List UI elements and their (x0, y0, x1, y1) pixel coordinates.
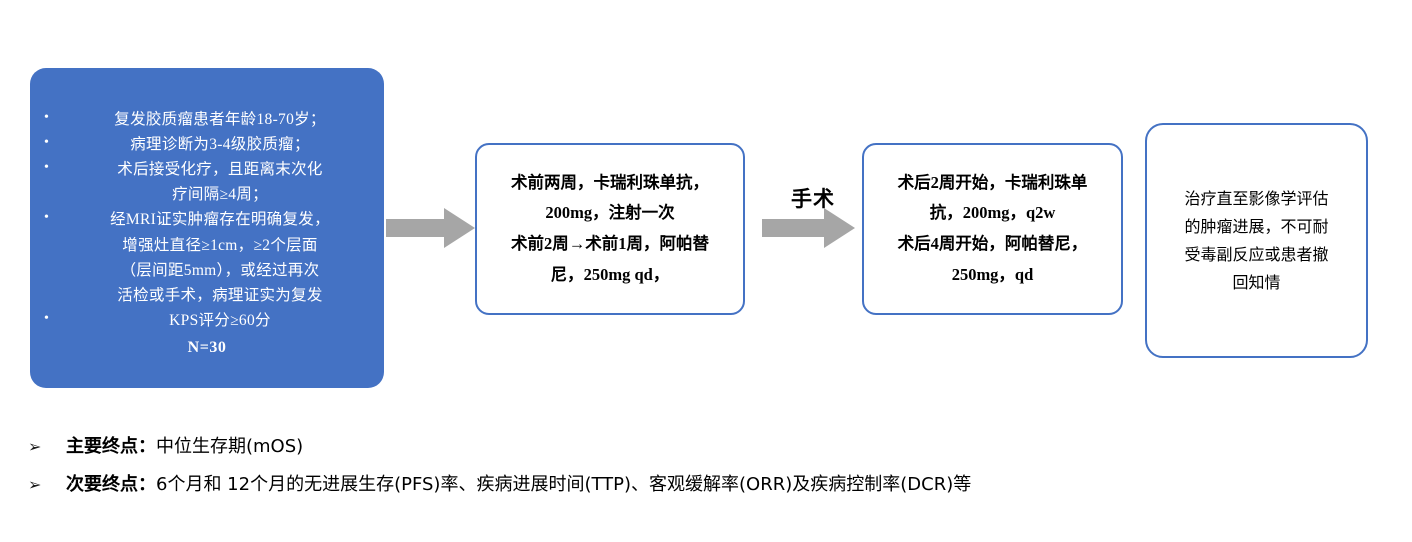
endpoints-section: ➢ 主要终点： 中位生存期(mOS) ➢ 次要终点： 6个月和 12个月的无进展… (28, 432, 1368, 508)
arrow-to-postop-icon (762, 206, 856, 255)
criterion-text: 复发胶质瘤患者年龄18-70岁； (70, 107, 370, 132)
criteria-list: • 复发胶质瘤患者年龄18-70岁； • 病理诊断为3-4级胶质瘤； • 术后接… (44, 107, 370, 333)
bullet-icon: • (44, 207, 70, 230)
secondary-endpoint-row: ➢ 次要终点： 6个月和 12个月的无进展生存(PFS)率、疾病进展时间(TTP… (28, 470, 1368, 496)
arrowhead-bullet-icon: ➢ (28, 475, 66, 494)
bullet-icon: • (44, 308, 70, 331)
criterion-line: 疗间隔≥4周； (70, 182, 370, 207)
list-item: • KPS评分≥60分 (44, 308, 370, 333)
criterion-text: KPS评分≥60分 (70, 308, 370, 333)
primary-endpoint-value: 中位生存期(mOS) (156, 432, 303, 458)
criterion-line: 经MRI证实肿瘤存在明确复发， (70, 207, 370, 232)
criterion-line: 术后接受化疗，且距离末次化 (70, 157, 370, 182)
criterion-text: 病理诊断为3-4级胶质瘤； (70, 132, 370, 157)
list-item: • 术后接受化疗，且距离末次化 疗间隔≥4周； (44, 157, 370, 207)
preop-treatment-box: 术前两周，卡瑞利珠单抗， 200mg，注射一次 术前2周→术前1周，阿帕替 尼，… (475, 143, 745, 315)
list-item: • 病理诊断为3-4级胶质瘤； (44, 132, 370, 157)
secondary-endpoint-value: 6个月和 12个月的无进展生存(PFS)率、疾病进展时间(TTP)、客观缓解率(… (156, 470, 971, 496)
secondary-endpoint-label: 次要终点： (66, 470, 156, 496)
bullet-icon: • (44, 132, 70, 155)
followup-line: 治疗直至影像学评估 (1184, 185, 1328, 213)
primary-endpoint-row: ➢ 主要终点： 中位生存期(mOS) (28, 432, 1368, 458)
followup-until-progression-box: 治疗直至影像学评估 的肿瘤进展，不可耐 受毒副反应或患者撤 回知情 (1145, 123, 1368, 358)
primary-endpoint-label: 主要终点： (66, 432, 156, 458)
criterion-line: KPS评分≥60分 (70, 308, 370, 333)
postop-treatment-box: 术后2周开始，卡瑞利珠单 抗，200mg，q2w 术后4周开始，阿帕替尼， 25… (862, 143, 1123, 315)
followup-line: 的肿瘤进展，不可耐 (1184, 213, 1328, 241)
bullet-icon: • (44, 157, 70, 180)
criterion-line: 活检或手术，病理证实为复发 (70, 283, 370, 308)
treatment-line: 200mg，注射一次 (511, 198, 709, 229)
treatment-line: 尼，250mg qd， (511, 260, 709, 291)
criterion-line: 复发胶质瘤患者年龄18-70岁； (70, 107, 370, 132)
criterion-text: 术后接受化疗，且距离末次化 疗间隔≥4周； (70, 157, 370, 207)
arrowhead-bullet-icon: ➢ (28, 437, 66, 456)
treatment-line: 术前两周，卡瑞利珠单抗， (511, 168, 709, 199)
sample-size-label: N=30 (44, 339, 370, 357)
postop-treatment-text: 术后2周开始，卡瑞利珠单 抗，200mg，q2w 术后4周开始，阿帕替尼， 25… (890, 168, 1096, 290)
eligibility-criteria-box: • 复发胶质瘤患者年龄18-70岁； • 病理诊断为3-4级胶质瘤； • 术后接… (30, 68, 384, 388)
treatment-line: 抗，200mg，q2w (898, 198, 1088, 229)
followup-line: 回知情 (1184, 269, 1328, 297)
arrow-to-preop-icon (386, 206, 476, 255)
preop-treatment-text: 术前两周，卡瑞利珠单抗， 200mg，注射一次 术前2周→术前1周，阿帕替 尼，… (503, 168, 717, 290)
treatment-line: 术后4周开始，阿帕替尼， (898, 229, 1088, 260)
followup-text: 治疗直至影像学评估 的肿瘤进展，不可耐 受毒副反应或患者撤 回知情 (1176, 185, 1336, 297)
list-item: • 复发胶质瘤患者年龄18-70岁； (44, 107, 370, 132)
bullet-icon: • (44, 107, 70, 130)
list-item: • 经MRI证实肿瘤存在明确复发， 增强灶直径≥1cm，≥2个层面 （层间距5m… (44, 207, 370, 307)
criterion-text: 经MRI证实肿瘤存在明确复发， 增强灶直径≥1cm，≥2个层面 （层间距5mm）… (70, 207, 370, 307)
criterion-line: 增强灶直径≥1cm，≥2个层面 (70, 233, 370, 258)
followup-line: 受毒副反应或患者撤 (1184, 241, 1328, 269)
flowchart-canvas: • 复发胶质瘤患者年龄18-70岁； • 病理诊断为3-4级胶质瘤； • 术后接… (0, 0, 1412, 542)
treatment-line: 250mg，qd (898, 260, 1088, 291)
criterion-line: 病理诊断为3-4级胶质瘤； (70, 132, 370, 157)
treatment-line: 术前2周→术前1周，阿帕替 (511, 229, 709, 260)
treatment-line: 术后2周开始，卡瑞利珠单 (898, 168, 1088, 199)
criterion-line: （层间距5mm），或经过再次 (70, 258, 370, 283)
